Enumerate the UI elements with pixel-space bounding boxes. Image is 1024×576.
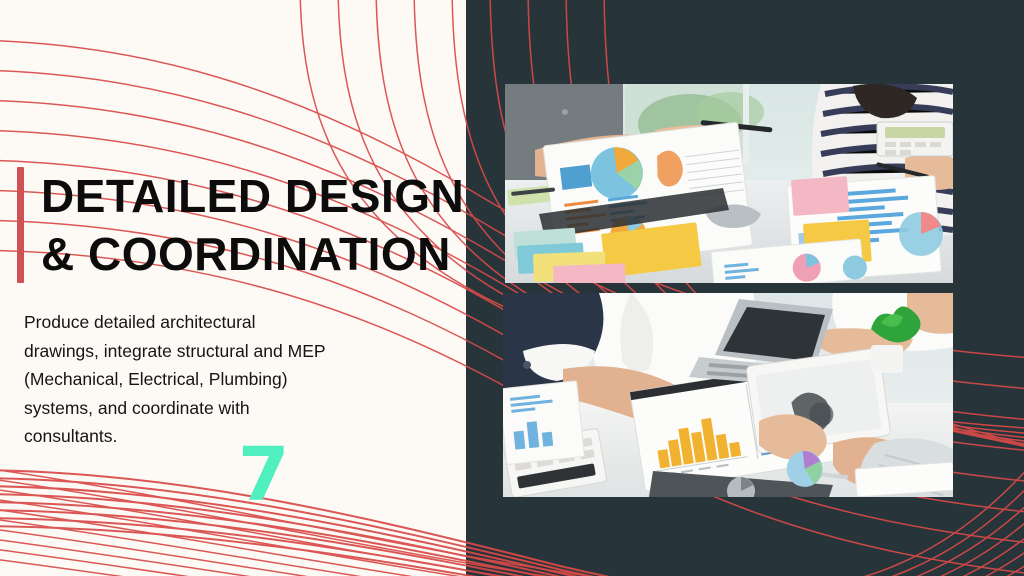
title-line-1: DETAILED DESIGN — [41, 167, 464, 225]
body-line-3: (Mechanical, Electrical, Plumbing) — [24, 365, 384, 394]
body-line-1: Produce detailed architectural — [24, 308, 384, 337]
body-paragraph: Produce detailed architectural drawings,… — [24, 308, 384, 451]
title-accent-bar — [17, 167, 24, 283]
photo-meeting-charts-bottom — [503, 293, 953, 497]
page-title: DETAILED DESIGN & COORDINATION — [41, 167, 464, 283]
body-line-5: consultants. — [24, 422, 384, 451]
title-line-2: & COORDINATION — [41, 225, 464, 283]
body-line-2: drawings, integrate structural and MEP — [24, 337, 384, 366]
step-number: 7 — [238, 438, 288, 512]
slide-canvas: DETAILED DESIGN & COORDINATION Produce d… — [0, 0, 1024, 576]
left-content-panel — [0, 0, 466, 576]
body-line-4: systems, and coordinate with — [24, 394, 384, 423]
slide-title: DETAILED DESIGN & COORDINATION — [17, 167, 464, 283]
photo-meeting-charts-top — [505, 84, 953, 283]
